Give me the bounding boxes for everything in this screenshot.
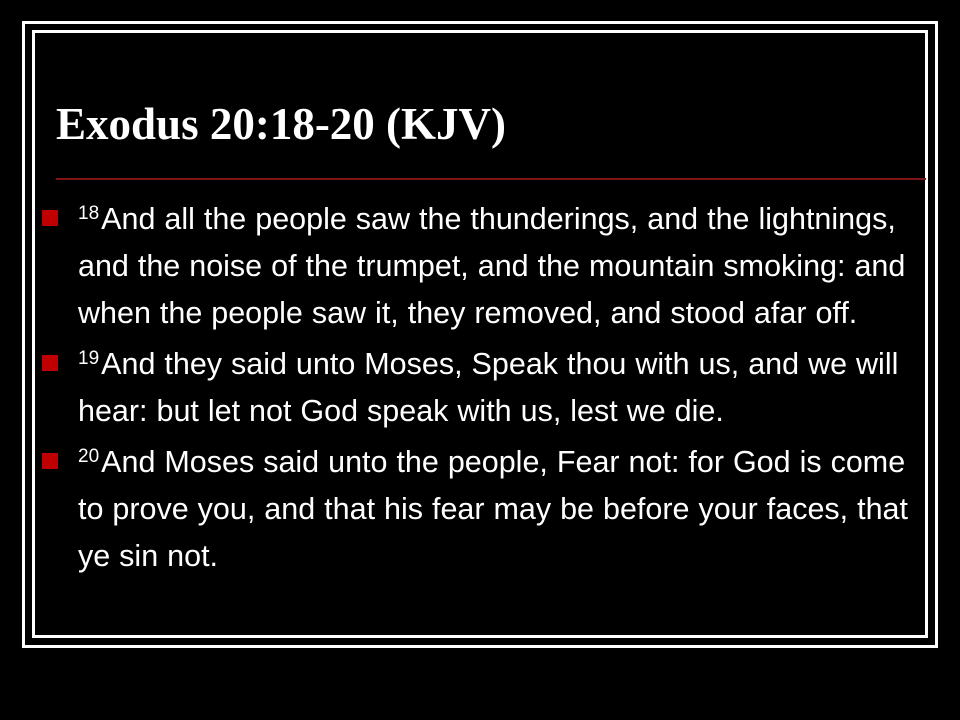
list-item: 19And they said unto Moses, Speak thou w… bbox=[36, 341, 924, 435]
page-title: Exodus 20:18-20 (KJV) bbox=[56, 96, 926, 152]
square-bullet-icon bbox=[42, 210, 58, 226]
verse-number: 18 bbox=[78, 203, 101, 224]
list-item: 20And Moses said unto the people, Fear n… bbox=[36, 439, 924, 580]
title-block: Exodus 20:18-20 (KJV) bbox=[56, 96, 926, 152]
verse-text: And Moses said unto the people, Fear not… bbox=[78, 445, 908, 573]
verse-text: And all the people saw the thunderings, … bbox=[78, 202, 905, 330]
verse-number: 19 bbox=[78, 348, 101, 369]
presentation-slide: Exodus 20:18-20 (KJV) 18And all the peop… bbox=[0, 0, 960, 720]
title-divider-rule bbox=[56, 178, 926, 180]
verse-text: And they said unto Moses, Speak thou wit… bbox=[78, 347, 898, 428]
list-item: 18And all the people saw the thunderings… bbox=[36, 196, 924, 337]
square-bullet-icon bbox=[42, 355, 58, 371]
verse-list: 18And all the people saw the thunderings… bbox=[36, 196, 924, 580]
square-bullet-icon bbox=[42, 453, 58, 469]
verse-number: 20 bbox=[78, 446, 101, 467]
